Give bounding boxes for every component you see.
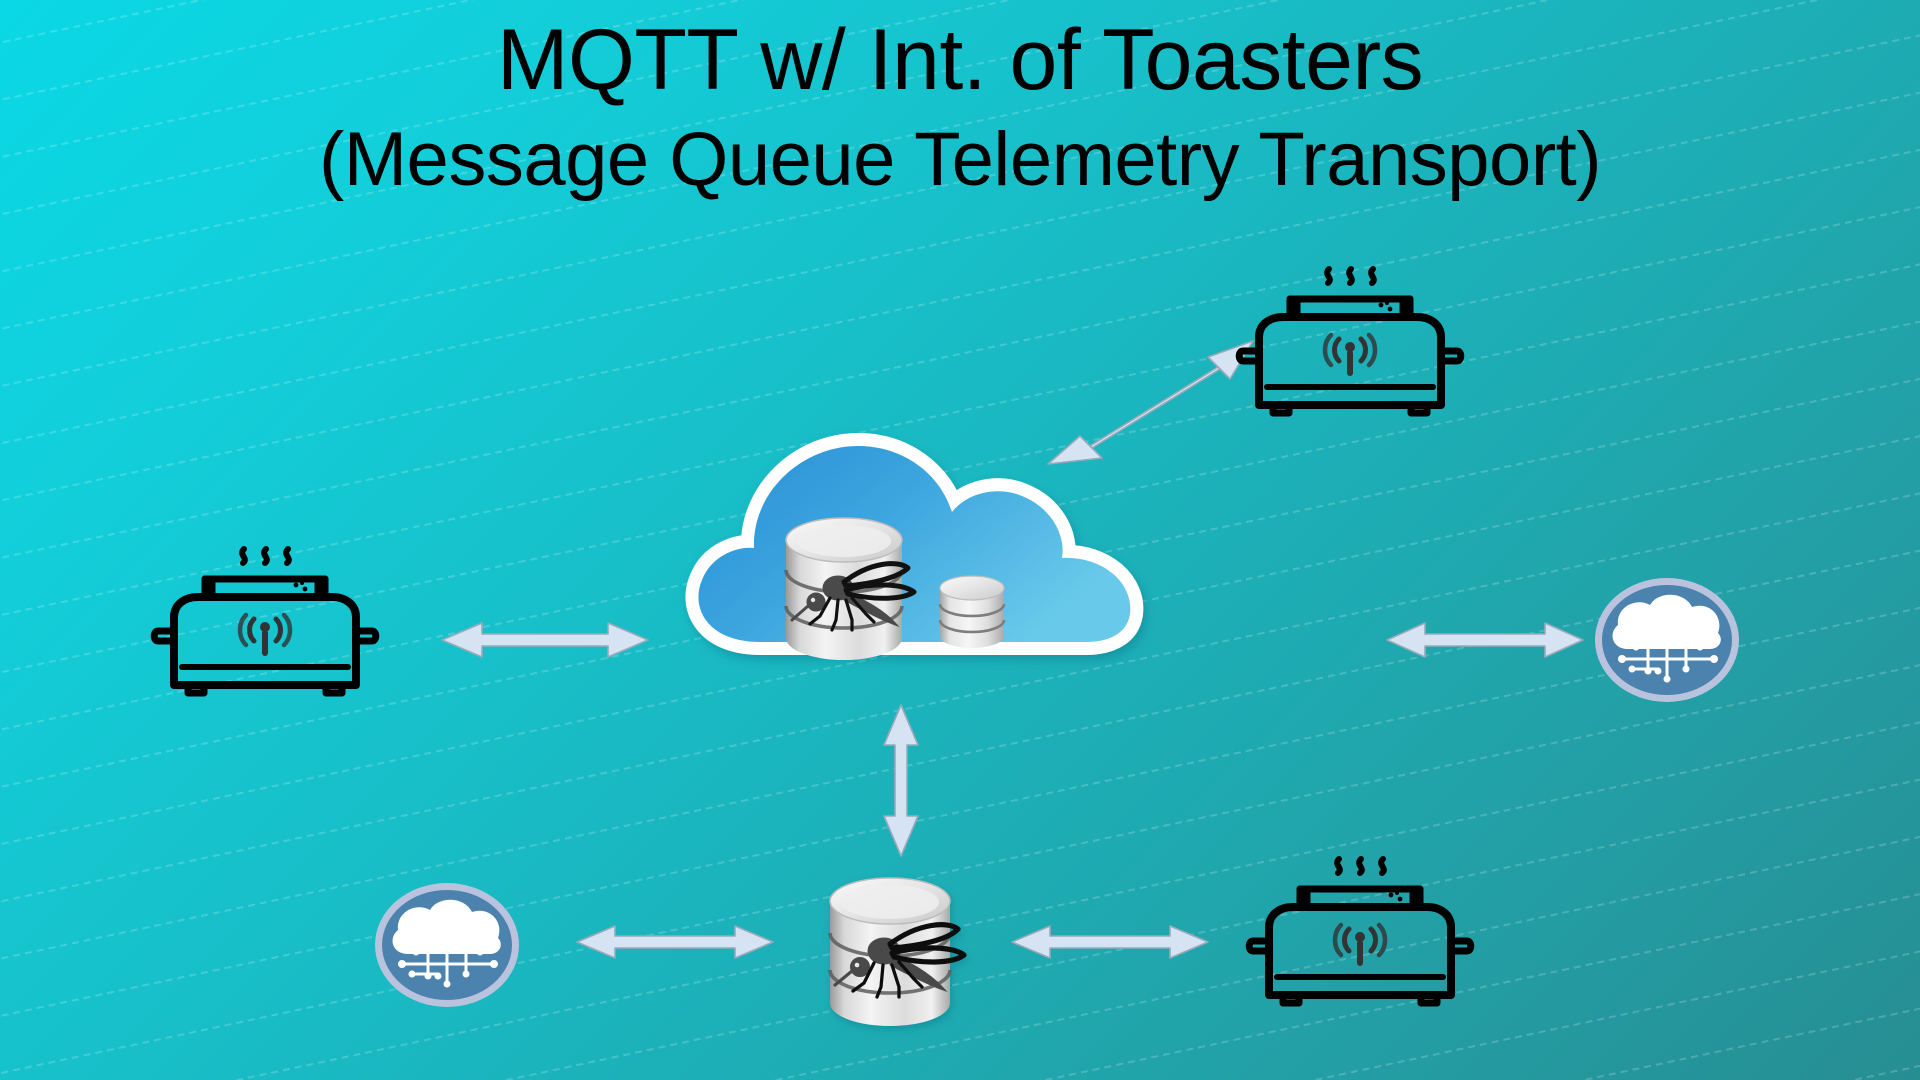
wifi-antenna-icon [1325, 335, 1375, 373]
page-title: MQTT w/ Int. of Toasters [0, 8, 1920, 112]
slide-canvas: MQTT w/ Int. of Toasters (Message Queue … [0, 0, 1920, 1080]
mosquitto-broker-node[interactable] [822, 875, 982, 1040]
mqtt-broker-cloud[interactable] [690, 430, 1250, 680]
wifi-antenna-icon [1335, 925, 1385, 963]
cloud-circuit-badge-icon [1595, 578, 1739, 702]
slide-title-block: MQTT w/ Int. of Toasters (Message Queue … [0, 8, 1920, 208]
toaster-left[interactable] [150, 545, 395, 695]
mosquitto-database-icon [830, 878, 964, 1026]
arrow-cloud-to-client-right [1385, 617, 1585, 663]
arrow-broker-to-client-bottom-left [575, 920, 775, 964]
steam-icon [242, 549, 289, 563]
cloud-circuit-badge-icon [375, 883, 519, 1007]
toaster-bottom-right[interactable] [1245, 855, 1490, 1005]
arrow-cloud-to-broker-bottom [878, 703, 924, 858]
mosquitto-database-icon [786, 518, 914, 660]
mqtt-client-bottom-left[interactable] [372, 880, 522, 1010]
toaster-top-right[interactable] [1235, 265, 1480, 415]
arrow-broker-to-toaster-bottom-right [1010, 920, 1210, 964]
cloud-shape [698, 446, 1130, 642]
steam-icon [1327, 269, 1374, 283]
database-stack-icon [940, 576, 1004, 648]
wifi-antenna-icon [240, 615, 290, 653]
page-subtitle: (Message Queue Telemetry Transport) [0, 112, 1920, 208]
mqtt-client-right[interactable] [1592, 575, 1742, 705]
arrow-cloud-to-toaster-left [440, 617, 650, 663]
steam-icon [1337, 859, 1384, 873]
